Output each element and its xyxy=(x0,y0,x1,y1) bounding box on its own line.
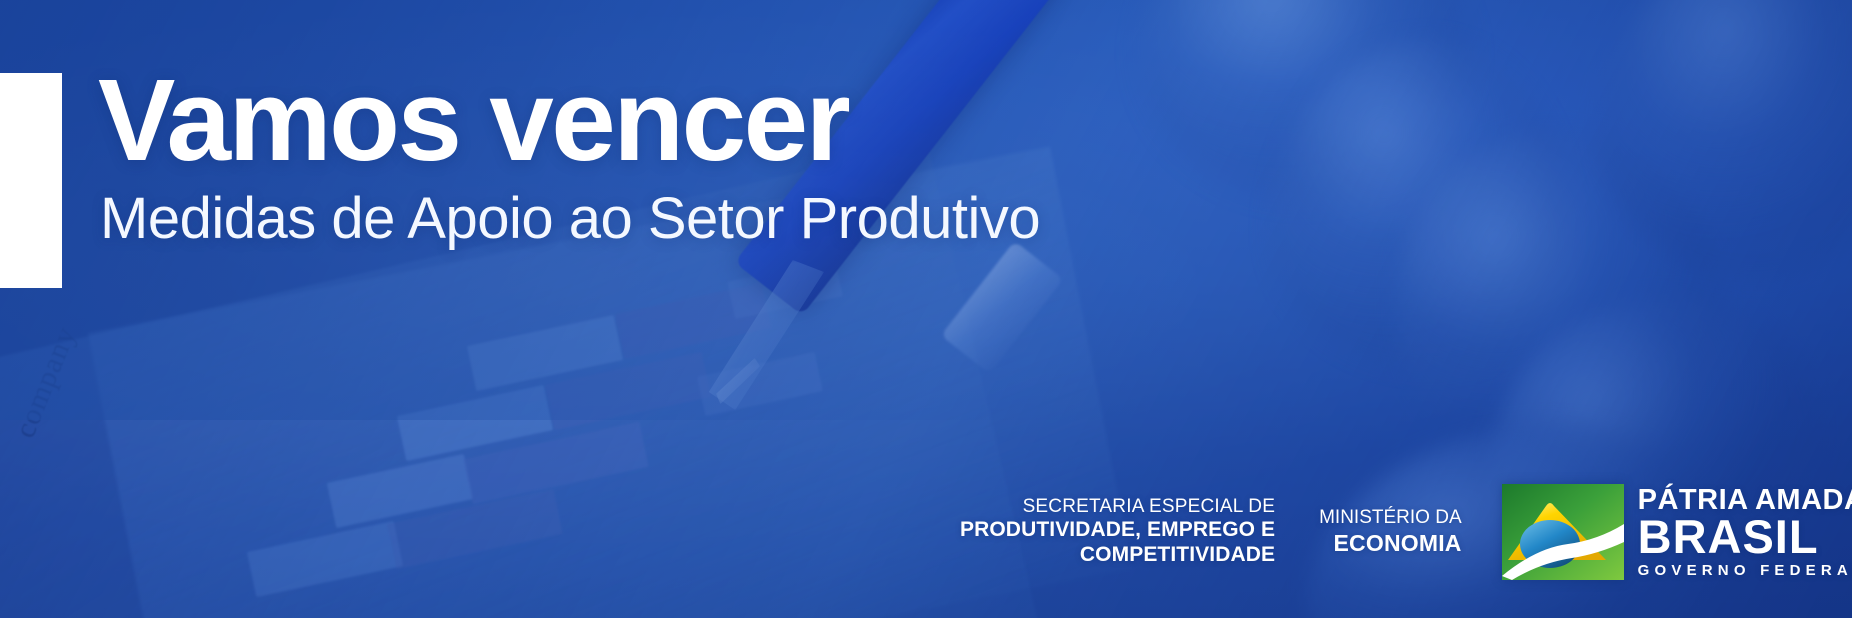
sepec-line-1: SECRETARIA ESPECIAL DE xyxy=(960,496,1275,518)
brasil-wordmark: PÁTRIA AMADA BRASIL GOVERNO FEDERAL xyxy=(1638,486,1852,578)
brasil-line-3: GOVERNO FEDERAL xyxy=(1638,563,1852,578)
campaign-banner: company Vamos vencer Medidas de Apoio ao… xyxy=(0,0,1852,618)
banner-content: Vamos vencer Medidas de Apoio ao Setor P… xyxy=(0,0,1852,618)
sepec-line-3: COMPETITIVIDADE xyxy=(960,543,1275,568)
ministerio-line-1: MINISTÉRIO DA xyxy=(1319,507,1462,530)
logo-secretaria-especial: SECRETARIA ESPECIAL DE PRODUTIVIDADE, EM… xyxy=(960,496,1275,568)
logo-patria-amada-brasil: PÁTRIA AMADA BRASIL GOVERNO FEDERAL xyxy=(1502,484,1852,580)
accent-block xyxy=(0,73,62,288)
logo-ministerio-economia: MINISTÉRIO DA ECONOMIA xyxy=(1319,507,1462,557)
page-subtitle: Medidas de Apoio ao Setor Produtivo xyxy=(100,190,1040,248)
footer-logo-strip: SECRETARIA ESPECIAL DE PRODUTIVIDADE, EM… xyxy=(960,480,1852,584)
ministerio-line-2: ECONOMIA xyxy=(1319,530,1462,558)
brasil-line-2: BRASIL xyxy=(1638,513,1852,560)
sepec-line-2: PRODUTIVIDADE, EMPREGO E xyxy=(960,518,1275,543)
brazil-flag-icon xyxy=(1502,484,1624,580)
page-title: Vamos vencer xyxy=(98,62,848,178)
